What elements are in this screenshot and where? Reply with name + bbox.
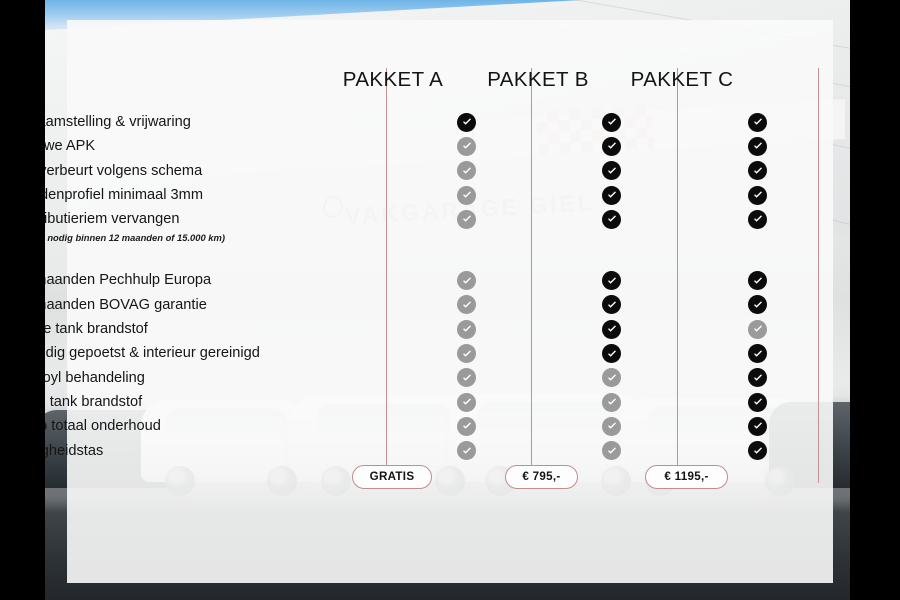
check-icon-a-inactive [457, 271, 476, 290]
check-icon-a-inactive [457, 417, 476, 436]
check-icon-b-active [602, 271, 621, 290]
checkmark-matrix [0, 110, 766, 463]
checkmark-row [0, 268, 766, 292]
package-header-a: PAKKET A [320, 68, 466, 92]
checkmark-spacer [0, 231, 766, 248]
check-icon-b-active [602, 210, 621, 229]
check-icon-c-active [748, 210, 767, 229]
check-icon-c-active [748, 161, 767, 180]
check-icon-b-active [602, 186, 621, 205]
checkmark-row [0, 439, 766, 463]
check-icon-c-active [748, 393, 767, 412]
checkmark-row [0, 341, 766, 365]
letterbox-bar-left [0, 0, 45, 600]
check-icon-c-active [748, 137, 767, 156]
package-header-c: PAKKET C [609, 68, 755, 92]
check-icon-c-active [748, 344, 767, 363]
check-icon-c-inactive [748, 320, 767, 339]
check-icon-a-active [457, 113, 476, 132]
price-pill-c[interactable]: € 1195,- [645, 465, 728, 489]
check-icon-c-active [748, 417, 767, 436]
checkmark-row [0, 390, 766, 414]
check-icon-a-inactive [457, 344, 476, 363]
check-icon-c-active [748, 113, 767, 132]
check-icon-b-active [602, 137, 621, 156]
checkmark-row [0, 159, 766, 183]
checkmark-row [0, 183, 766, 207]
check-icon-a-inactive [457, 393, 476, 412]
check-icon-c-active [748, 295, 767, 314]
check-icon-b-active [602, 295, 621, 314]
check-icon-b-active [602, 113, 621, 132]
check-icon-a-inactive [457, 161, 476, 180]
check-icon-b-inactive [602, 393, 621, 412]
check-icon-b-inactive [602, 441, 621, 460]
package-header-row: PAKKET A PAKKET B PAKKET C [0, 68, 766, 114]
check-icon-c-active [748, 441, 767, 460]
checkmark-row [0, 293, 766, 317]
price-pill-b[interactable]: € 795,- [505, 465, 578, 489]
checkmark-row [0, 207, 766, 231]
check-icon-a-inactive [457, 137, 476, 156]
check-icon-a-inactive [457, 295, 476, 314]
check-icon-b-active [602, 344, 621, 363]
check-icon-a-inactive [457, 186, 476, 205]
checkmark-row [0, 366, 766, 390]
price-row: GRATIS € 795,- € 1195,- [0, 465, 766, 505]
check-icon-a-inactive [457, 320, 476, 339]
checkmark-spacer [0, 248, 766, 268]
letterbox-bar-right [850, 0, 900, 600]
package-header-b: PAKKET B [465, 68, 611, 92]
check-icon-a-inactive [457, 210, 476, 229]
check-icon-b-inactive [602, 368, 621, 387]
check-icon-c-active [748, 186, 767, 205]
price-pill-a[interactable]: GRATIS [352, 465, 432, 489]
promo-image: VAKGARAGE GIEL PAKKET A PAKKET B PAKKET … [0, 0, 900, 600]
checkmark-row [0, 134, 766, 158]
check-icon-b-inactive [602, 417, 621, 436]
column-separator [818, 68, 819, 483]
check-icon-c-active [748, 271, 767, 290]
checkmark-row [0, 414, 766, 438]
check-icon-a-inactive [457, 441, 476, 460]
check-icon-b-active [602, 320, 621, 339]
check-icon-b-active [602, 161, 621, 180]
checkmark-row [0, 110, 766, 134]
check-icon-a-inactive [457, 368, 476, 387]
check-icon-c-active [748, 368, 767, 387]
checkmark-row [0, 317, 766, 341]
